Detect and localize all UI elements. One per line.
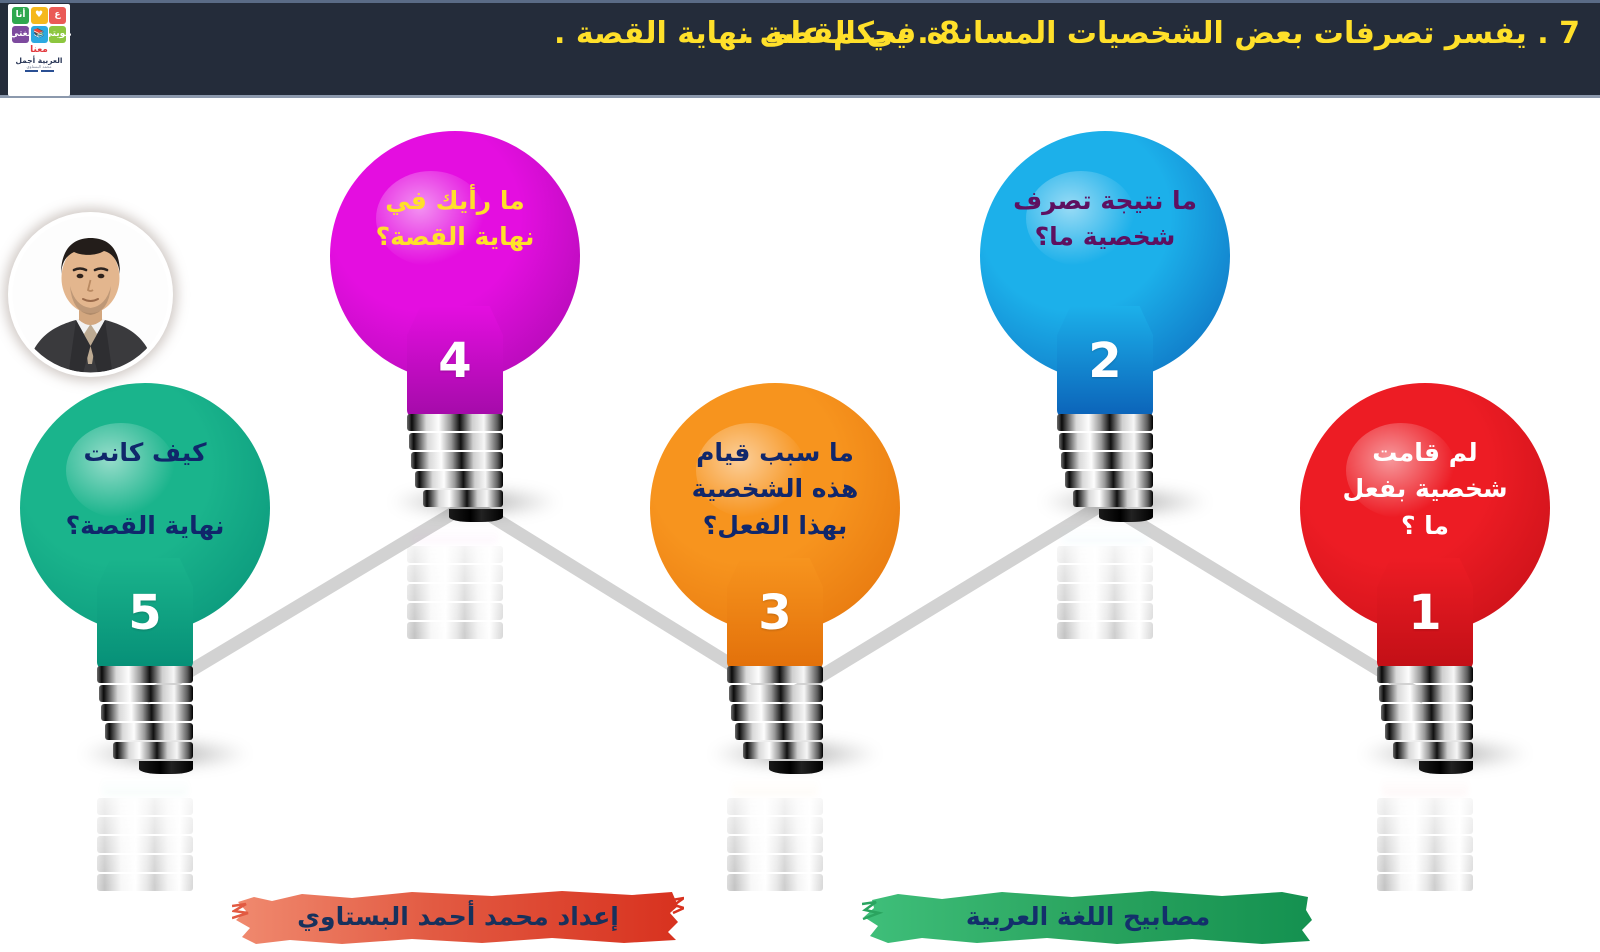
cap-band (1377, 666, 1473, 683)
objective-8-text: 8 . يحكم على نهاية القصة . (554, 16, 960, 51)
author-avatar (8, 212, 173, 377)
bulb-3-reflection (723, 771, 827, 891)
cap-contact-tip (449, 509, 503, 522)
cap-band (1379, 685, 1473, 702)
cap-band (731, 704, 823, 721)
cap-band (727, 666, 823, 683)
cap-band (409, 433, 503, 450)
header-bar: ع ♥ أنا هويتي 📚 لغتي معنا العربية أجمل م… (0, 0, 1600, 98)
cap-band (735, 723, 823, 740)
logo-tile-grid: ع ♥ أنا هويتي 📚 لغتي (12, 7, 66, 43)
bulb-1[interactable]: لم قامت شخصية بفعل ما ؟ 1 (1300, 383, 1550, 668)
bulb-4-reflection (403, 519, 507, 639)
logo-word-main: معنا (30, 46, 48, 55)
reflection-band (1057, 546, 1153, 563)
logo-divider-left (41, 70, 54, 72)
reflection-band (727, 817, 823, 834)
title-banner: مصابيح اللغة العربية (862, 880, 1314, 952)
bulb-1-number: 1 (1300, 589, 1550, 637)
cap-band (101, 704, 193, 721)
reflection-band (727, 855, 823, 872)
cap-contact-tip (1419, 761, 1473, 774)
cap-contact-tip (1099, 509, 1153, 522)
bulb-4-question: ما رأيك في نهاية القصة؟ (344, 183, 566, 256)
bulb-2-reflection (1053, 519, 1157, 639)
brand-logo[interactable]: ع ♥ أنا هويتي 📚 لغتي معنا العربية أجمل م… (8, 4, 70, 96)
bulb-3-number: 3 (650, 589, 900, 637)
logo-word-credit: محمد البستاوي (27, 65, 52, 69)
reflection-band (727, 836, 823, 853)
logo-tile-books-icon: 📚 (31, 26, 48, 43)
reflection-band (97, 798, 193, 815)
reflection-band (727, 798, 823, 815)
reflection-band (1057, 565, 1153, 582)
cap-band (1059, 433, 1153, 450)
bulb-1-question: لم قامت شخصية بفعل ما ؟ (1314, 435, 1536, 544)
cap-band (729, 685, 823, 702)
logo-tile-ana: أنا (12, 7, 29, 24)
logo-divider-right (25, 70, 38, 72)
cap-band (1393, 742, 1473, 759)
cap-band (105, 723, 193, 740)
cap-contact-tip (139, 761, 193, 774)
bulb-5-question: كيف كانت نهاية القصة؟ (34, 435, 256, 544)
cap-band (99, 685, 193, 702)
bulb-2-screw-cap (1057, 414, 1153, 518)
bulb-1-glass: لم قامت شخصية بفعل ما ؟ 1 (1300, 383, 1550, 668)
reflection-band (407, 546, 503, 563)
logo-tile-heart: ♥ (31, 7, 48, 24)
cap-band (1385, 723, 1473, 740)
reflection-band (1377, 874, 1473, 891)
logo-divider (25, 70, 54, 72)
bulb-4[interactable]: ما رأيك في نهاية القصة؟ 4 (330, 131, 580, 416)
cap-band (1065, 471, 1153, 488)
bulb-2-glass: ما نتيجة تصرف شخصية ما؟ 2 (980, 131, 1230, 416)
bulb-3-glass: ما سبب قيام هذه الشخصية بهذا الفعل؟ 3 (650, 383, 900, 668)
bulb-5[interactable]: كيف كانت نهاية القصة؟ 5 (20, 383, 270, 668)
logo-tile-hawiyati: هويتي (49, 26, 66, 43)
bulb-4-glass: ما رأيك في نهاية القصة؟ 4 (330, 131, 580, 416)
bulb-3-question: ما سبب قيام هذه الشخصية بهذا الفعل؟ (664, 435, 886, 544)
reflection-band (97, 817, 193, 834)
bulb-2[interactable]: ما نتيجة تصرف شخصية ما؟ 2 (980, 131, 1230, 416)
avatar-portrait-illustration (8, 212, 173, 377)
bulb-5-screw-cap (97, 666, 193, 770)
reflection-band (407, 565, 503, 582)
bulb-4-screw-cap (407, 414, 503, 518)
logo-tile-ain: ع (49, 7, 66, 24)
bulb-5-reflection (93, 771, 197, 891)
reflection-band (407, 603, 503, 620)
reflection-band (1057, 622, 1153, 639)
bulb-4-number: 4 (330, 337, 580, 385)
reflection-band (1377, 836, 1473, 853)
reflection-band (97, 836, 193, 853)
reflection-band (1057, 584, 1153, 601)
reflection-band (1377, 798, 1473, 815)
bulb-2-number: 2 (980, 337, 1230, 385)
bulb-5-glass: كيف كانت نهاية القصة؟ 5 (20, 383, 270, 668)
reflection-band (97, 855, 193, 872)
cap-band (407, 414, 503, 431)
reflection-band (727, 874, 823, 891)
cap-contact-tip (769, 761, 823, 774)
cap-band (1057, 414, 1153, 431)
reflection-band (1377, 855, 1473, 872)
header-top-accent-line (0, 0, 1600, 3)
reflection-band (407, 622, 503, 639)
cap-band (1381, 704, 1473, 721)
cap-band (743, 742, 823, 759)
cap-band (97, 666, 193, 683)
reflection-band (1057, 603, 1153, 620)
bulb-1-screw-cap (1377, 666, 1473, 770)
bulb-3[interactable]: ما سبب قيام هذه الشخصية بهذا الفعل؟ 3 (650, 383, 900, 668)
bulb-1-reflection (1373, 771, 1477, 891)
author-banner: إعداد محمد أحمد البستاوي (232, 880, 684, 952)
logo-word-sub: العربية أجمل (15, 57, 62, 65)
cap-band (113, 742, 193, 759)
slide-canvas: كيف كانت نهاية القصة؟ 5 ما رأيك في نها (0, 98, 1600, 900)
cap-band (423, 490, 503, 507)
cap-band (1073, 490, 1153, 507)
title-banner-label: مصابيح اللغة العربية (966, 902, 1210, 931)
bulb-2-question: ما نتيجة تصرف شخصية ما؟ (994, 183, 1216, 256)
reflection-band (97, 874, 193, 891)
bulb-5-number: 5 (20, 589, 270, 637)
reflection-band (407, 584, 503, 601)
logo-tile-lughati: لغتي (12, 26, 29, 43)
cap-band (1061, 452, 1153, 469)
bulb-3-screw-cap (727, 666, 823, 770)
author-banner-label: إعداد محمد أحمد البستاوي (297, 902, 619, 931)
cap-band (415, 471, 503, 488)
cap-band (411, 452, 503, 469)
reflection-band (1377, 817, 1473, 834)
